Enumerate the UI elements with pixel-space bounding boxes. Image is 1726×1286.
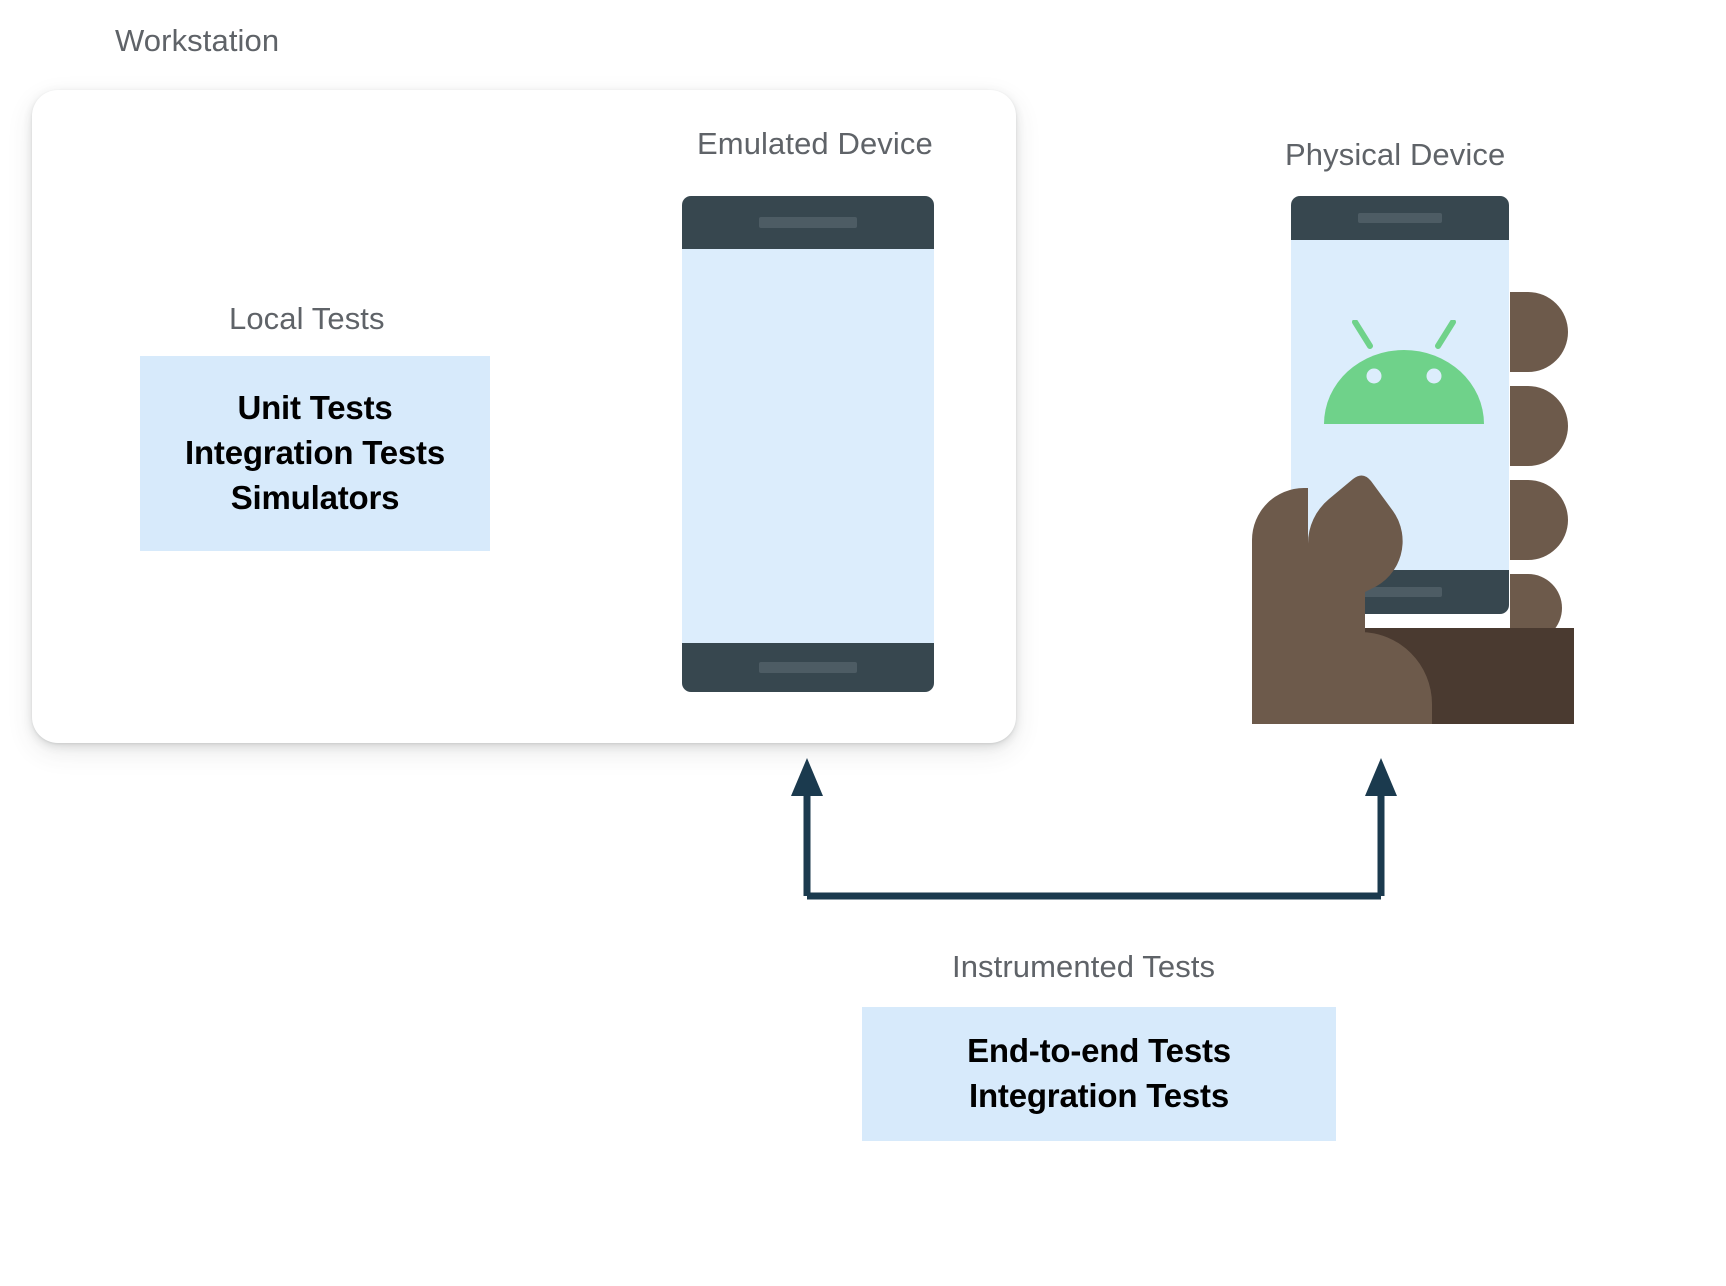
phone-home-indicator-icon: [759, 662, 857, 673]
phone-speaker-icon: [759, 217, 857, 228]
arrow-head-left-icon: [791, 758, 823, 796]
phone-top-bezel: [682, 196, 934, 249]
physical-device-caption: Physical Device: [1285, 138, 1505, 172]
instrumented-tests-caption: Instrumented Tests: [952, 950, 1215, 984]
local-test-item: Simulators: [231, 476, 400, 521]
arrow-head-right-icon: [1365, 758, 1397, 796]
local-tests-box: Unit Tests Integration Tests Simulators: [140, 356, 490, 551]
workstation-label: Workstation: [115, 24, 279, 58]
local-tests-caption: Local Tests: [229, 302, 385, 336]
phone-top-bezel: [1291, 196, 1509, 240]
instrumented-tests-arrows: [780, 756, 1420, 916]
phone-speaker-icon: [1358, 213, 1442, 223]
local-test-item: Integration Tests: [185, 431, 445, 476]
phone-screen: [682, 249, 934, 643]
diagram-canvas: Workstation Local Tests Unit Tests Integ…: [0, 0, 1726, 1286]
instrumented-test-item: Integration Tests: [969, 1074, 1229, 1119]
emulated-device-caption: Emulated Device: [697, 127, 933, 161]
local-test-item: Unit Tests: [237, 386, 392, 431]
fingers: [1510, 292, 1568, 642]
phone-bottom-bezel: [682, 643, 934, 692]
hand-holding-phone-illustration: [1244, 276, 1574, 724]
instrumented-tests-box: End-to-end Tests Integration Tests: [862, 1007, 1336, 1141]
emulated-device-phone: [682, 196, 934, 692]
instrumented-test-item: End-to-end Tests: [967, 1029, 1231, 1074]
